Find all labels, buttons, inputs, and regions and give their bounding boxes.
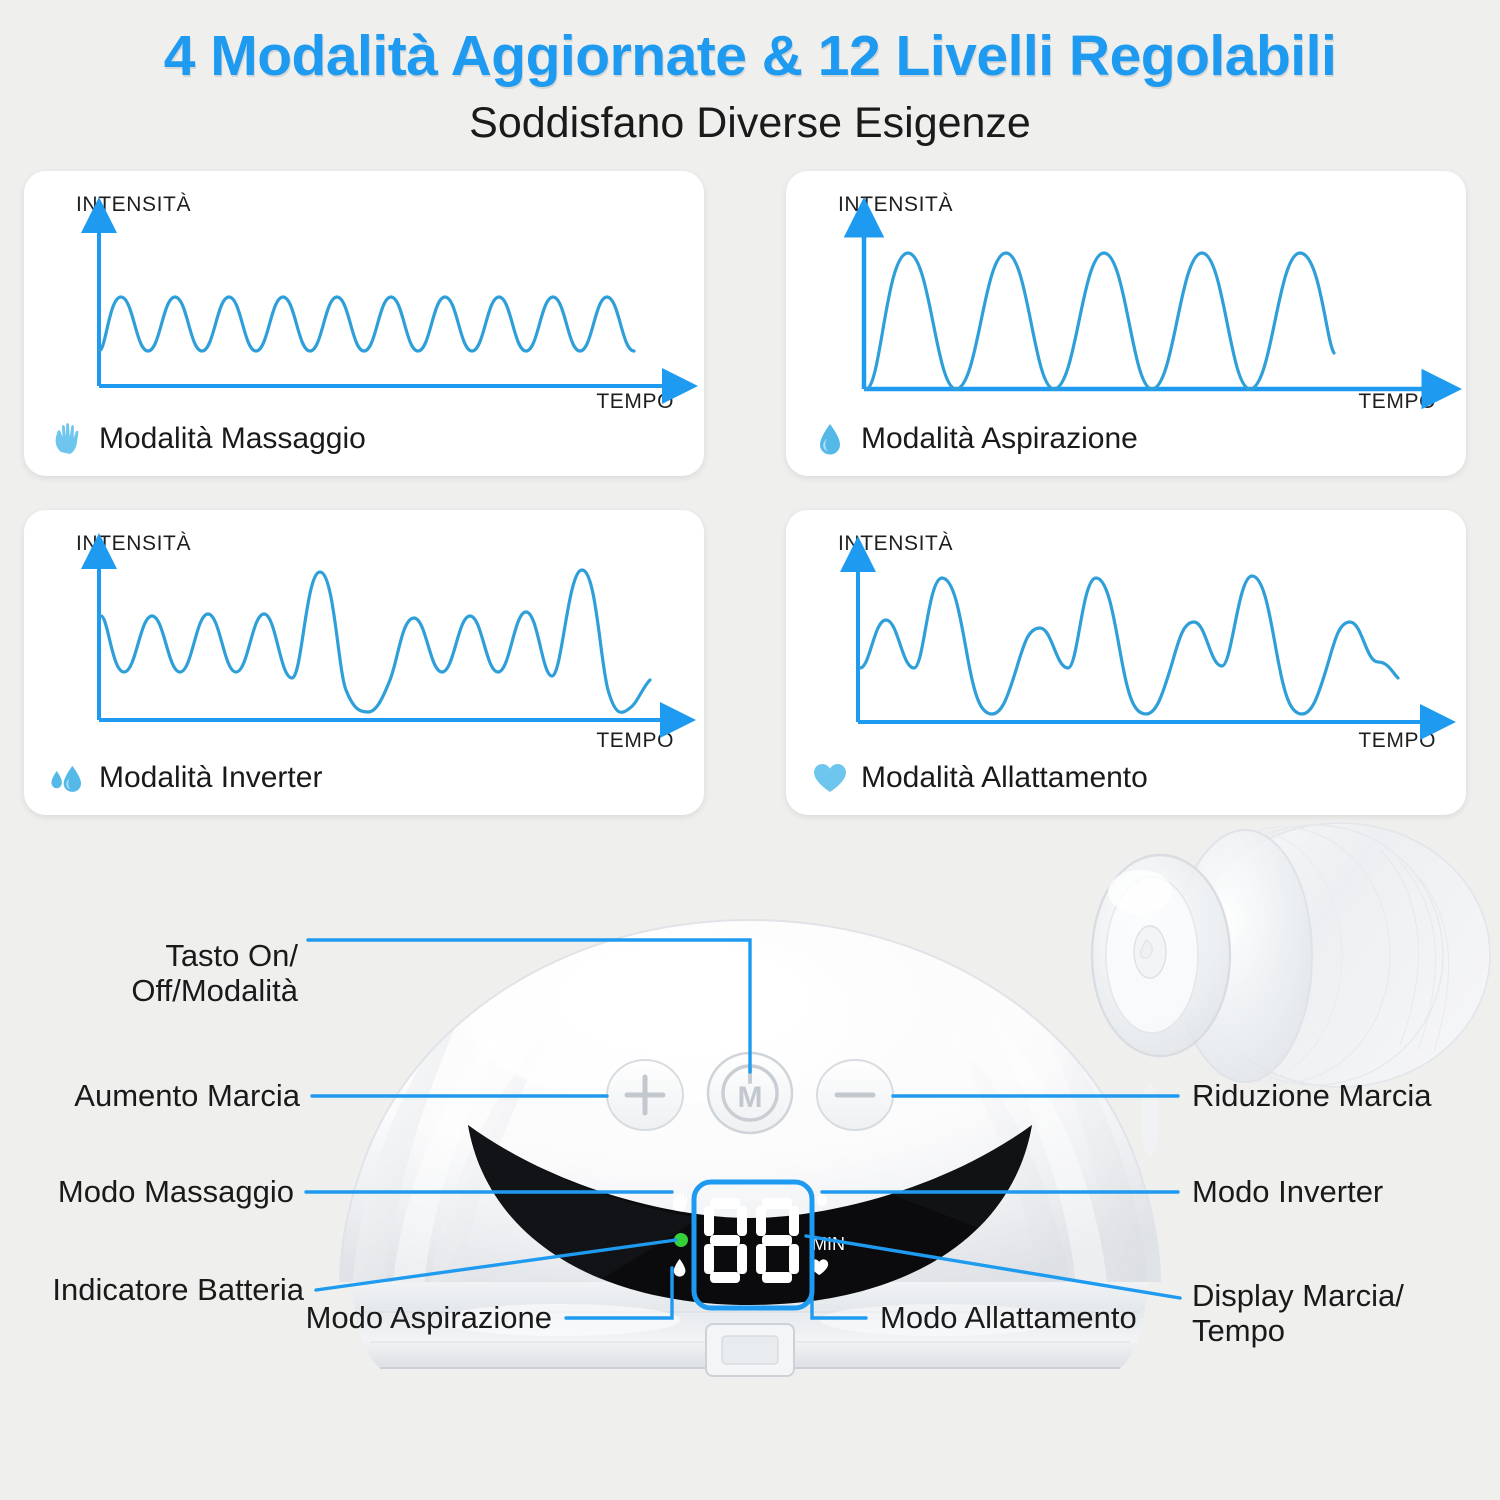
mode-label-row: Modalità Inverter	[48, 751, 322, 805]
flange-accessory	[1092, 823, 1490, 1087]
mode-name: Modalità Massaggio	[99, 424, 366, 454]
callout-display-gear-time: Display Marcia/ Tempo	[1192, 1278, 1404, 1349]
callout-inverter-mode: Modo Inverter	[1192, 1174, 1383, 1209]
mode-card-aspirazione: INTENSITÀ TEMPO Modalità Aspirazione	[786, 171, 1466, 476]
mode-card-massaggio: INTENSITÀ TEMPO Modalità Massaggio	[24, 171, 704, 476]
page-subtitle: Soddisfano Diverse Esigenze	[0, 102, 1500, 145]
drop-icon	[810, 419, 850, 459]
mode-name: Modalità Inverter	[99, 763, 322, 793]
waveform-chart-aspirazione	[786, 171, 1466, 421]
callout-nursing-mode: Modo Allattamento	[880, 1300, 1137, 1335]
mode-card-allattamento: INTENSITÀ TEMPO Modalità Allattamento	[786, 510, 1466, 815]
hand-icon	[48, 419, 88, 459]
mode-name: Modalità Aspirazione	[861, 424, 1138, 454]
header: 4 Modalità Aggiornate & 12 Livelli Regol…	[0, 0, 1500, 145]
mode-label-row: Modalità Allattamento	[810, 751, 1148, 805]
mode-card-inverter: INTENSITÀ TEMPO Modalità Inverter	[24, 510, 704, 815]
waveform-chart-inverter	[24, 510, 704, 760]
heart-icon	[810, 758, 850, 798]
page-title: 4 Modalità Aggiornate & 12 Livelli Regol…	[0, 28, 1500, 85]
callout-suction-mode: Modo Aspirazione	[306, 1300, 552, 1335]
callout-power-button: Tasto On/ Off/Modalità	[131, 938, 298, 1009]
mode-name: Modalità Allattamento	[861, 763, 1148, 793]
callout-massage-mode: Modo Massaggio	[58, 1174, 294, 1209]
callout-battery-indicator: Indicatore Batteria	[52, 1272, 304, 1307]
product-diagram: MIN	[0, 820, 1500, 1500]
double-drop-icon	[48, 758, 88, 798]
mode-label-row: Modalità Massaggio	[48, 412, 366, 466]
mode-letter-icon: M	[738, 1081, 763, 1114]
waveform-chart-allattamento	[786, 510, 1466, 760]
mode-label-row: Modalità Aspirazione	[810, 412, 1138, 466]
callout-increase-gear: Aumento Marcia	[74, 1078, 300, 1113]
waveform-chart-massaggio	[24, 171, 704, 421]
callout-decrease-gear: Riduzione Marcia	[1192, 1078, 1432, 1113]
